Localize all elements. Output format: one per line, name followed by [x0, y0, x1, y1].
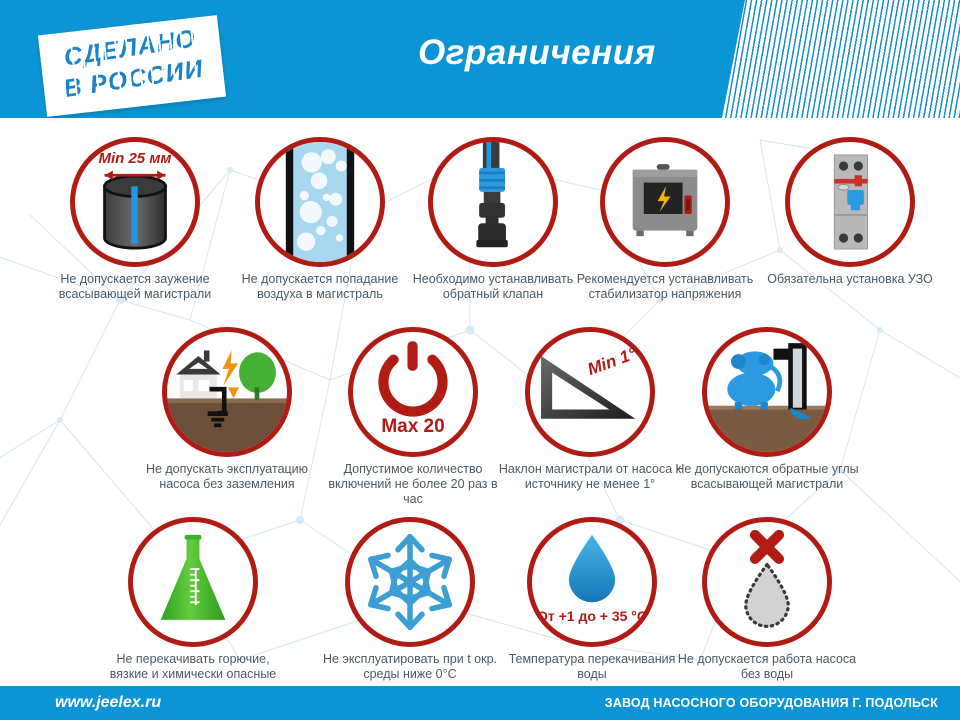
restrictions-grid: Min 25 мм Не допускается заужение всасыв…: [0, 0, 960, 720]
item-caption: Не допускаются обратные углы всасывающей…: [672, 462, 862, 492]
item-caption: Не допускается заужение всасывающей маги…: [40, 272, 230, 302]
flask-icon: [133, 522, 253, 642]
footer-website-link[interactable]: www.jeelex.ru: [55, 694, 161, 712]
pipe-air-bubbles-icon: [260, 142, 380, 262]
item-line-slope[interactable]: Min 1° Наклон магистрали от насоса к ист…: [495, 327, 685, 492]
item-max-starts[interactable]: Max 20 Допустимое количество включений н…: [318, 327, 508, 507]
dry-run-icon: [707, 522, 827, 642]
icon-circle: [255, 137, 385, 267]
icon-circle: [785, 137, 915, 267]
icon-circle: [600, 137, 730, 267]
item-caption: Рекомендуется устанавливать стабилизатор…: [570, 272, 760, 302]
icon-circle: Min 25 мм: [70, 137, 200, 267]
item-caption: Обязательна установка УЗО: [755, 272, 945, 287]
icon-circle: [128, 517, 258, 647]
house-grounding-icon: [167, 332, 287, 452]
item-caption: Не допускается работа насоса без воды: [672, 652, 862, 682]
item-grounding[interactable]: Не допускать эксплуатацию насоса без заз…: [132, 327, 322, 492]
item-water-temperature[interactable]: От +1 до + 35 °C Температура перекачиван…: [497, 517, 687, 682]
footer-company-name: ЗАВОД НАСОСНОГО ОБОРУДОВАНИЯ Г. ПОДОЛЬСК: [605, 696, 938, 710]
water-drop-icon: [532, 522, 652, 642]
icon-circle: [428, 137, 558, 267]
icon-circle: Max 20: [348, 327, 478, 457]
item-caption: Не эксплуатировать при t окр. среды ниже…: [315, 652, 505, 682]
item-dry-run[interactable]: Не допускается работа насоса без воды: [672, 517, 862, 682]
snowflake-icon: [350, 522, 470, 642]
item-caption: Не допускать эксплуатацию насоса без заз…: [132, 462, 322, 492]
item-check-valve[interactable]: Необходимо устанавливать обратный клапан: [398, 137, 588, 302]
icon-circle: [702, 517, 832, 647]
item-caption: Наклон магистрали от насоса к источнику …: [495, 462, 685, 492]
item-reverse-angles[interactable]: Не допускаются обратные углы всасывающей…: [672, 327, 862, 492]
item-rcd-breaker[interactable]: Обязательна установка УЗО: [755, 137, 945, 287]
item-air-in-line[interactable]: Не допускается попадание воздуха в магис…: [225, 137, 415, 302]
item-caption: Температура перекачивания воды: [497, 652, 687, 682]
footer-bar: www.jeelex.ru ЗАВОД НАСОСНОГО ОБОРУДОВАН…: [0, 686, 960, 720]
icon-circle: Min 1°: [525, 327, 655, 457]
check-valve-icon: [433, 142, 553, 262]
item-caption: Необходимо устанавливать обратный клапан: [398, 272, 588, 302]
item-caption: Не допускается попадание воздуха в магис…: [225, 272, 415, 302]
icon-circle: [345, 517, 475, 647]
icon-circle: [702, 327, 832, 457]
rcd-breaker-icon: [790, 142, 910, 262]
stabilizer-box-icon: [605, 142, 725, 262]
pump-station-icon: [707, 332, 827, 452]
slide-root: Ограничения СДЕЛАНО В РОССИИ: [0, 0, 960, 720]
item-pipe-diameter[interactable]: Min 25 мм Не допускается заужение всасыв…: [40, 137, 230, 302]
icon-circle: [162, 327, 292, 457]
badge-label: Max 20: [353, 416, 473, 438]
item-low-temperature[interactable]: Не эксплуатировать при t окр. среды ниже…: [315, 517, 505, 682]
icon-circle: От +1 до + 35 °C: [527, 517, 657, 647]
item-voltage-stabilizer[interactable]: Рекомендуется устанавливать стабилизатор…: [570, 137, 760, 302]
badge-label: Min 25 мм: [75, 150, 195, 167]
item-hazardous-liquids[interactable]: Не перекачивать горючие, вязкие и химиче…: [98, 517, 288, 697]
badge-label: От +1 до + 35 °C: [532, 608, 652, 624]
item-caption: Допустимое количество включений не более…: [318, 462, 508, 507]
